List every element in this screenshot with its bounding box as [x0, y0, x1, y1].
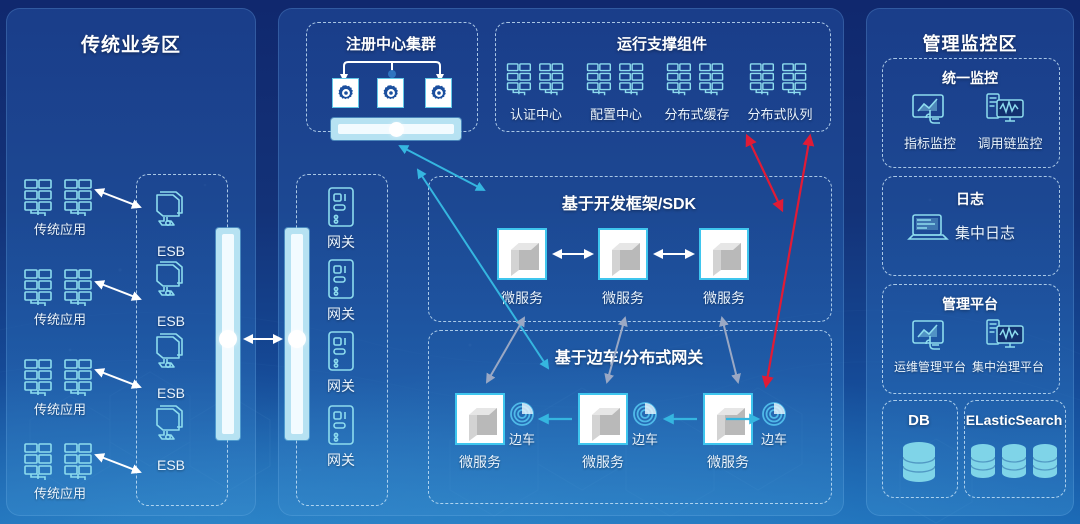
esb-label-1: ESB [140, 313, 202, 329]
gateway-label-2: 网关 [312, 376, 370, 396]
sidecar-microservice-0[interactable] [455, 393, 505, 445]
sidecar-microservice-2[interactable] [703, 393, 753, 445]
server-stack-icon [748, 62, 810, 100]
support-label-1: 配置中心 [577, 104, 655, 123]
right-zone-title: 管理监控区 [866, 30, 1074, 56]
ops-platform-icon [910, 318, 950, 352]
esb-service-bus-knob[interactable] [219, 330, 237, 348]
platform-title: 管理平台 [882, 294, 1058, 314]
diagram-canvas: 传统业务区 传统应用 [0, 0, 1080, 524]
sidecar-spiral-icon [508, 400, 536, 428]
traditional-app-label-1: 传统应用 [16, 309, 104, 328]
server-stack-icon [585, 62, 647, 100]
sidecar-microservice-label-0: 微服务 [445, 452, 515, 472]
sdk-microservice-2[interactable] [699, 228, 749, 280]
database-cluster-icon [969, 440, 1061, 486]
traditional-app-label-3: 传统应用 [16, 483, 104, 502]
gateway-service-bus-knob[interactable] [288, 330, 306, 348]
registry-node-1[interactable] [377, 78, 404, 108]
esb-icon [148, 400, 194, 446]
esb-item-0 [148, 186, 194, 232]
db-cylinder [899, 440, 939, 491]
metrics-monitor-item [910, 92, 950, 131]
esb-item-2 [148, 328, 194, 374]
metrics-monitor-label: 指标监控 [892, 133, 968, 152]
sidecar-microservice-label-2: 微服务 [693, 452, 763, 472]
support-label-2: 分布式缓存 [653, 104, 741, 123]
governance-platform-icon [985, 318, 1027, 352]
sidecar-spiral-icon [631, 400, 659, 428]
log-title: 日志 [882, 189, 1058, 209]
gateway-icon [325, 258, 357, 300]
gateway-item-3 [325, 404, 357, 446]
gateway-icon [325, 330, 357, 372]
gateway-item-0 [325, 186, 357, 228]
sdk-microservice-1[interactable] [598, 228, 648, 280]
registry-node-0[interactable] [332, 78, 359, 108]
support-title: 运行支撑组件 [495, 33, 829, 54]
gateway-label-0: 网关 [312, 232, 370, 252]
elasticsearch-cluster [969, 440, 1061, 491]
gear-icon [337, 84, 355, 102]
server-stack-icon [22, 358, 96, 402]
sdk-title: 基于开发框架/SDK [428, 190, 830, 214]
sdk-microservice-label-2: 微服务 [689, 288, 759, 308]
server-stack-icon [22, 268, 96, 312]
sidecar-label-1: 边车 [626, 429, 664, 448]
sidecar-label-2: 边车 [755, 429, 793, 448]
laptop-log-label: 集中日志 [955, 222, 1045, 243]
registry-title: 注册中心集群 [306, 33, 476, 54]
server-stack-icon [22, 442, 96, 486]
laptop-log-item [907, 212, 949, 251]
laptop-log-icon [907, 212, 949, 246]
support-label-3: 分布式队列 [736, 104, 824, 123]
monitor-title: 统一监控 [882, 68, 1058, 88]
ops-platform-item [910, 318, 950, 357]
esb-item-3 [148, 400, 194, 446]
esb-icon [148, 256, 194, 302]
traditional-app-label-2: 传统应用 [16, 399, 104, 418]
registry-node-2[interactable] [425, 78, 452, 108]
gateway-item-1 [325, 258, 357, 300]
elasticsearch-title: ELasticSearch [962, 412, 1066, 428]
support-item-2 [665, 62, 727, 102]
esb-icon [148, 328, 194, 374]
cube-icon [457, 395, 507, 447]
esb-label-2: ESB [140, 385, 202, 401]
cube-icon [701, 230, 751, 282]
db-title: DB [882, 412, 956, 429]
trace-monitor-icon [985, 92, 1027, 126]
esb-label-3: ESB [140, 457, 202, 473]
support-item-1 [585, 62, 647, 102]
sidecar-spiral-icon [760, 400, 788, 428]
cube-icon [705, 395, 755, 447]
sdk-microservice-0[interactable] [497, 228, 547, 280]
database-cylinder-icon [899, 440, 939, 486]
gear-icon [382, 84, 400, 102]
esb-icon [148, 186, 194, 232]
governance-platform-item [985, 318, 1027, 357]
governance-platform-label: 集中治理平台 [962, 358, 1054, 375]
sdk-microservice-label-0: 微服务 [487, 288, 557, 308]
registry-load-balancer-knob[interactable] [389, 122, 404, 137]
sidecar-microservice-1[interactable] [578, 393, 628, 445]
sidecar-title: 基于边车/分布式网关 [428, 344, 830, 368]
trace-monitor-item [985, 92, 1027, 131]
traditional-app-label-0: 传统应用 [16, 219, 104, 238]
sidecar-label-0: 边车 [503, 429, 541, 448]
gateway-label-1: 网关 [312, 304, 370, 324]
gateway-label-3: 网关 [312, 450, 370, 470]
gateway-item-2 [325, 330, 357, 372]
left-zone-title: 传统业务区 [6, 30, 256, 57]
sidecar-microservice-label-1: 微服务 [568, 452, 638, 472]
gateway-icon [325, 186, 357, 228]
esb-item-1 [148, 256, 194, 302]
server-stack-icon [22, 178, 96, 222]
cube-icon [600, 230, 650, 282]
gear-icon [430, 84, 448, 102]
server-stack-icon [665, 62, 727, 100]
support-item-0 [505, 62, 567, 102]
gateway-icon [325, 404, 357, 446]
metrics-monitor-icon [910, 92, 950, 126]
support-item-3 [748, 62, 810, 102]
support-label-0: 认证中心 [497, 104, 575, 123]
trace-monitor-label: 调用链监控 [968, 133, 1052, 152]
cube-icon [499, 230, 549, 282]
server-stack-icon [505, 62, 567, 100]
cube-icon [580, 395, 630, 447]
sdk-microservice-label-1: 微服务 [588, 288, 658, 308]
